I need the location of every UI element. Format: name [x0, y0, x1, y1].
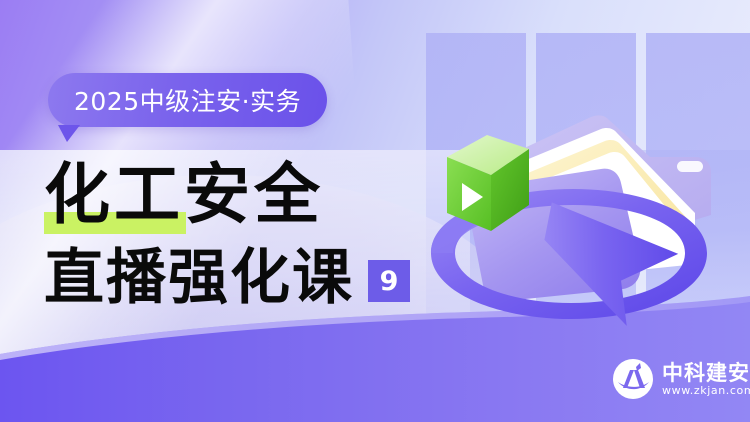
page-title-line1: 化工安全: [44, 150, 324, 238]
page-title-line2: 直播强化课 9: [44, 248, 410, 308]
brand-name: 中科建安: [662, 362, 750, 384]
brand-logo: 中科建安 www.zkjan.com: [612, 358, 750, 400]
episode-number-text: 9: [380, 266, 399, 297]
zkjan-logo-icon: [612, 358, 654, 400]
brand-logo-text: 中科建安 www.zkjan.com: [662, 362, 750, 397]
brand-url: www.zkjan.com: [662, 385, 750, 397]
banner-text-content: 2025中级注安·实务 化工安全 直播强化课 9: [0, 0, 470, 422]
course-tag-label: 2025中级注安·实务: [74, 82, 301, 118]
page-title-line2-text: 直播强化课: [44, 248, 354, 308]
speech-bubble-tail-icon: [58, 125, 80, 142]
course-promo-banner: 2025中级注安·实务 化工安全 直播强化课 9 中科建安 www: [0, 0, 750, 422]
episode-number-badge: 9: [368, 260, 410, 302]
course-tag-badge: 2025中级注安·实务: [48, 73, 327, 127]
page-title-line1-text: 化工安全: [44, 161, 324, 227]
